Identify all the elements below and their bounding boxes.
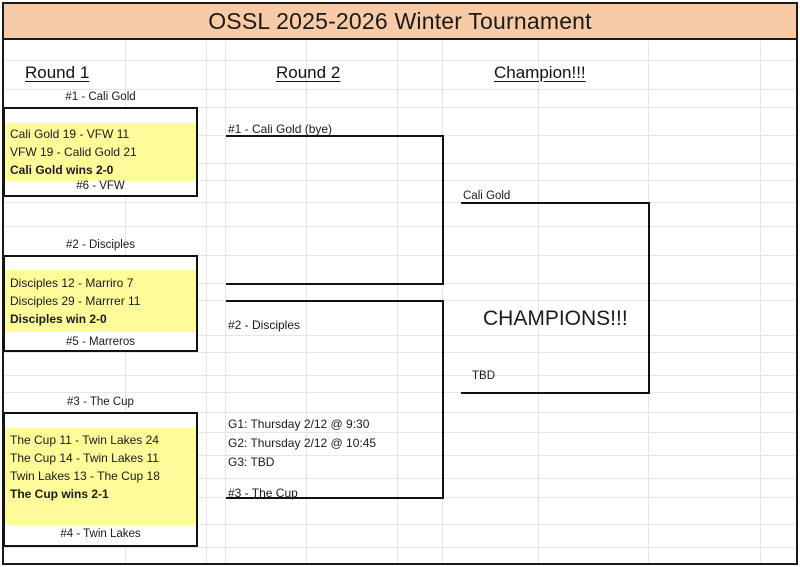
round2-slot-2: #2 - Disciples	[228, 318, 300, 332]
grid-line-horizontal	[4, 547, 796, 548]
schedule-row: G1: Thursday 2/12 @ 9:30	[228, 415, 438, 434]
round2-slot-1: #1 - Cali Gold (bye)	[228, 122, 332, 136]
grid-line-vertical	[225, 41, 226, 563]
matchup-box-3: The Cup 11 - Twin Lakes 24 The Cup 14 - …	[3, 412, 198, 547]
grid-line-vertical	[538, 41, 539, 563]
schedule-row: G2: Thursday 2/12 @ 10:45	[228, 434, 438, 453]
grid-line-horizontal	[4, 202, 796, 203]
page-title: OSSL 2025-2026 Winter Tournament	[208, 8, 592, 35]
tournament-title-bar: OSSL 2025-2026 Winter Tournament	[4, 4, 796, 40]
grid-line-vertical	[306, 41, 307, 563]
grid-line-vertical	[206, 41, 207, 563]
seed-label-bottom-2: #5 - Marreros	[3, 336, 198, 348]
bracket-line-champ-bottom	[461, 392, 650, 394]
bracket-line-r2-upper-close	[226, 283, 444, 285]
grid-line-horizontal	[4, 226, 796, 227]
bracket-line-champ-vertical	[648, 202, 650, 394]
seed-label-top-3: #3 - The Cup	[3, 396, 198, 408]
seed-label-top-1: #1 - Cali Gold	[3, 91, 198, 103]
heading-round-1: Round 1	[25, 63, 89, 83]
game-line: Disciples 29 - Marrrer 11	[10, 292, 192, 310]
game-line: Twin Lakes 13 - The Cup 18	[10, 467, 192, 485]
game-line: Disciples 12 - Marriro 7	[10, 274, 192, 292]
champion-slot-2: TBD	[472, 370, 495, 382]
game-line: Cali Gold 19 - VFW 11	[10, 125, 192, 143]
grid-line-horizontal	[4, 392, 796, 393]
seed-label-bottom-1: #6 - VFW	[3, 180, 198, 192]
sheet-border-right	[796, 2, 798, 565]
grid-line-horizontal	[4, 60, 796, 61]
champion-slot-1: Cali Gold	[463, 190, 510, 202]
bracket-line-r2-bottom	[226, 497, 444, 499]
sheet-border-bottom	[2, 563, 798, 565]
series-result: The Cup wins 2-1	[10, 485, 192, 503]
heading-round-2: Round 2	[276, 63, 340, 83]
bracket-line-r2-divider	[226, 300, 444, 302]
bracket-line-r2-top	[226, 135, 444, 137]
series-result: Disciples win 2-0	[10, 310, 192, 328]
schedule-row: G3: TBD	[228, 453, 438, 472]
grid-line-horizontal	[4, 375, 796, 376]
tournament-bracket-sheet: OSSL 2025-2026 Winter Tournament Round 1…	[0, 0, 800, 567]
champions-banner: CHAMPIONS!!!	[483, 307, 628, 331]
grid-line-horizontal	[4, 352, 796, 353]
bracket-line-champ-top	[461, 202, 650, 204]
game-line: VFW 19 - Calid Gold 21	[10, 143, 192, 161]
game-line: The Cup 11 - Twin Lakes 24	[10, 431, 192, 449]
seed-label-bottom-3: #4 - Twin Lakes	[3, 528, 198, 540]
grid-line-vertical	[397, 41, 398, 563]
game-schedule: G1: Thursday 2/12 @ 9:30 G2: Thursday 2/…	[228, 415, 438, 472]
series-result: Cali Gold wins 2-0	[10, 161, 192, 179]
bracket-line-r2-lower-vertical	[442, 300, 444, 497]
heading-champion: Champion!!!	[494, 63, 586, 83]
grid-line-horizontal	[4, 89, 796, 90]
seed-label-top-2: #2 - Disciples	[3, 239, 198, 251]
grid-line-vertical	[760, 41, 761, 563]
bracket-line-r2-upper-vertical	[442, 135, 444, 285]
game-line: The Cup 14 - Twin Lakes 11	[10, 449, 192, 467]
